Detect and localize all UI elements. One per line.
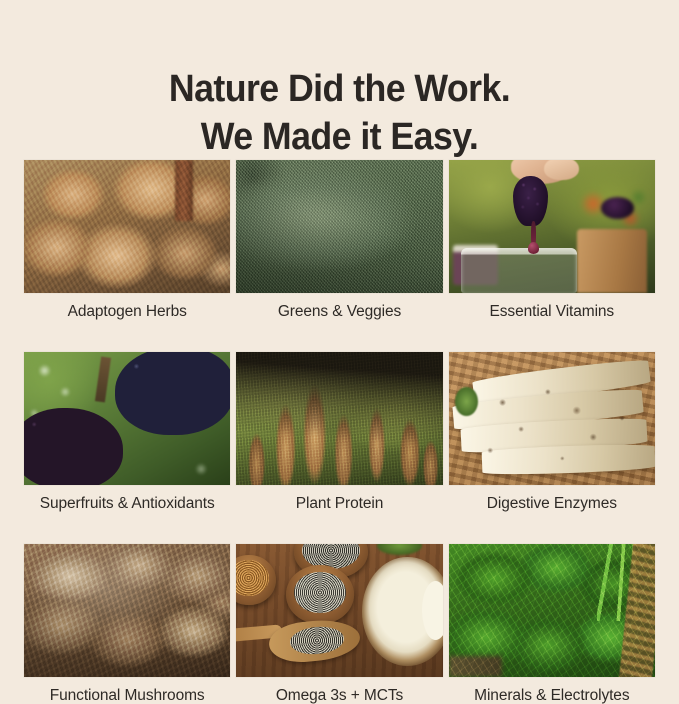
photo-detail-leaf xyxy=(377,544,422,555)
photo-detail-texture xyxy=(24,160,230,293)
thumbnail-omega-3s-mcts xyxy=(236,544,442,677)
headline-line-2: We Made it Easy. xyxy=(20,114,658,162)
headline-line-1: Nature Did the Work. xyxy=(20,66,658,114)
photo-detail-shading xyxy=(236,160,442,293)
grid-item-label: Minerals & Electrolytes xyxy=(474,687,629,704)
photo-digestive-enzymes xyxy=(449,352,655,485)
photo-functional-mushrooms xyxy=(24,544,230,677)
photo-detail-background-berry xyxy=(601,197,634,218)
photo-minerals-electrolytes xyxy=(449,544,655,677)
photo-adaptogen-herbs xyxy=(24,160,230,293)
grid-item-plant-protein: Plant Protein xyxy=(236,352,442,512)
photo-detail-basket xyxy=(577,229,647,293)
photo-detail-leaf-veins xyxy=(449,544,655,677)
thumbnail-greens-veggies xyxy=(236,160,442,293)
ingredient-infographic: Nature Did the Work. We Made it Easy. Ad… xyxy=(0,0,679,679)
grid-item-functional-mushrooms: Functional Mushrooms xyxy=(24,544,230,704)
thumbnail-adaptogen-herbs xyxy=(24,160,230,293)
photo-greens-veggies xyxy=(236,160,442,293)
photo-essential-vitamins xyxy=(449,160,655,293)
grid-item-essential-vitamins: Essential Vitamins xyxy=(449,160,655,320)
grid-item-minerals-electrolytes: Minerals & Electrolytes xyxy=(449,544,655,704)
grid-item-digestive-enzymes: Digestive Enzymes xyxy=(449,352,655,512)
grid-item-label: Essential Vitamins xyxy=(490,303,615,320)
grid-item-adaptogen-herbs: Adaptogen Herbs xyxy=(24,160,230,320)
grid-item-greens-veggies: Greens & Veggies xyxy=(236,160,442,320)
page-title: Nature Did the Work. We Made it Easy. xyxy=(0,66,679,162)
grid-item-label: Digestive Enzymes xyxy=(487,495,617,512)
photo-detail-glass xyxy=(461,248,577,293)
thumbnail-superfruits-antioxidants xyxy=(24,352,230,485)
grid-item-label: Functional Mushrooms xyxy=(50,687,205,704)
thumbnail-essential-vitamins xyxy=(449,160,655,293)
photo-detail-chia-seeds xyxy=(294,572,346,613)
thumbnail-minerals-electrolytes xyxy=(449,544,655,677)
grid-item-label: Superfruits & Antioxidants xyxy=(40,495,215,512)
grid-item-label: Plant Protein xyxy=(296,495,383,512)
grid-item-label: Omega 3s + MCTs xyxy=(276,687,403,704)
grid-item-omega-3s-mcts: Omega 3s + MCTs xyxy=(236,544,442,704)
photo-detail-blackberry xyxy=(513,176,548,227)
grid-item-superfruits-antioxidants: Superfruits & Antioxidants xyxy=(24,352,230,512)
photo-detail-coconut-flesh xyxy=(422,581,443,640)
grid-item-label: Greens & Veggies xyxy=(278,303,401,320)
thumbnail-plant-protein xyxy=(236,352,442,485)
photo-detail-root-markings xyxy=(449,352,655,485)
photo-plant-protein xyxy=(236,352,442,485)
photo-detail-thumb xyxy=(544,160,579,180)
grid-item-label: Adaptogen Herbs xyxy=(68,303,187,320)
photo-superfruits-antioxidants xyxy=(24,352,230,485)
photo-detail-highlight xyxy=(24,544,230,677)
photo-omega-3s-mcts xyxy=(236,544,442,677)
thumbnail-digestive-enzymes xyxy=(449,352,655,485)
thumbnail-functional-mushrooms xyxy=(24,544,230,677)
photo-detail-coconut xyxy=(362,557,442,666)
photo-detail-berry-cluster-upper xyxy=(115,352,231,434)
photo-detail-seed-texture xyxy=(236,352,442,485)
ingredient-grid: Adaptogen Herbs Greens & Veggies xyxy=(24,160,655,704)
